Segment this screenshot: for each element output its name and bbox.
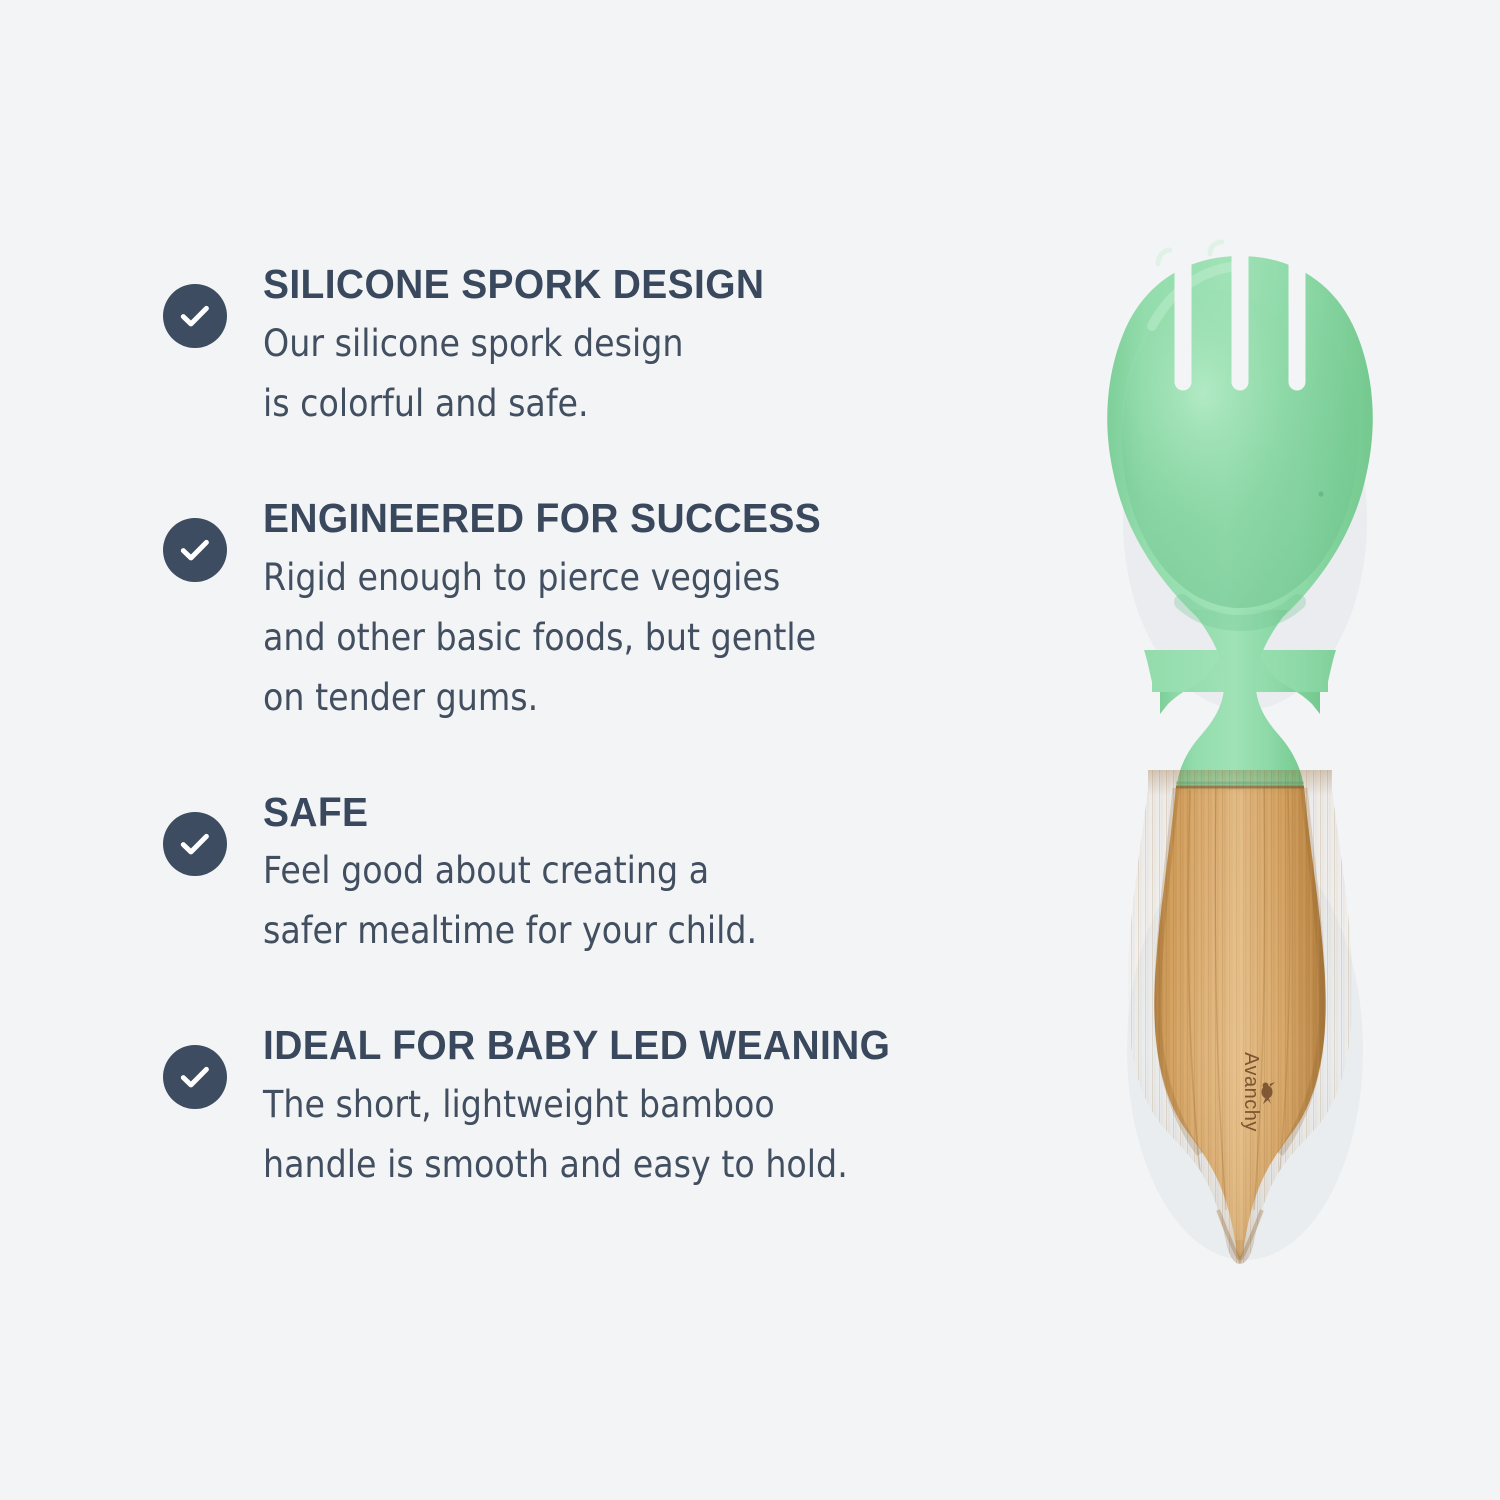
check-circle-icon bbox=[163, 518, 227, 582]
check-circle-icon bbox=[163, 1045, 227, 1109]
feature-title: SILICONE SPORK DESIGN bbox=[263, 262, 1004, 308]
feature-body: Rigid enough to pierce veggies and other… bbox=[263, 548, 965, 728]
feature-body: Our silicone spork design is colorful an… bbox=[263, 314, 965, 434]
spork-bamboo-handle: Avanchy bbox=[1120, 770, 1363, 1280]
feature-title: ENGINEERED FOR SUCCESS bbox=[263, 496, 1004, 542]
feature-list: SILICONE SPORK DESIGN Our silicone spork… bbox=[163, 262, 1043, 1195]
feature-title: IDEAL FOR BABY LED WEANING bbox=[263, 1023, 1004, 1069]
feature-item: SAFE Feel good about creating a safer me… bbox=[163, 790, 1043, 962]
check-circle-icon bbox=[163, 812, 227, 876]
feature-item: IDEAL FOR BABY LED WEANING The short, li… bbox=[163, 1023, 1043, 1195]
feature-body: The short, lightweight bamboo handle is … bbox=[263, 1075, 965, 1195]
feature-body: Feel good about creating a safer mealtim… bbox=[263, 841, 965, 961]
feature-item: SILICONE SPORK DESIGN Our silicone spork… bbox=[163, 262, 1043, 434]
feature-title: SAFE bbox=[263, 790, 1004, 836]
infographic-page: SILICONE SPORK DESIGN Our silicone spork… bbox=[0, 0, 1500, 1500]
brand-logo-text: Avanchy bbox=[1240, 1052, 1262, 1132]
product-image: Avanchy bbox=[1040, 230, 1440, 1300]
feature-item: ENGINEERED FOR SUCCESS Rigid enough to p… bbox=[163, 496, 1043, 728]
spork-silicone-head bbox=[1107, 242, 1373, 790]
check-circle-icon bbox=[163, 284, 227, 348]
